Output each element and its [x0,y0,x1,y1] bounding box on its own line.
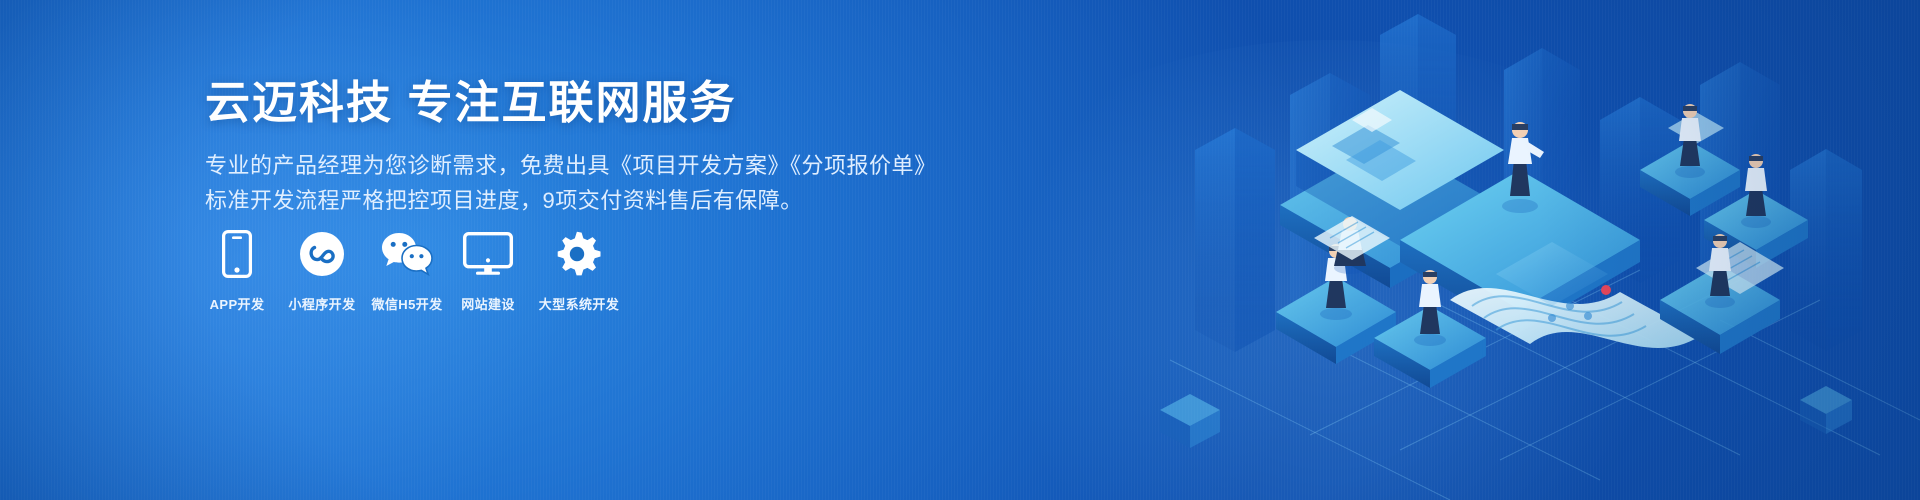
floating-cubes [1160,386,1852,448]
service-label-wechat: 微信H5开发 [371,294,442,313]
service-label-app: APP开发 [210,294,265,313]
gear-icon [556,228,602,280]
isometric-illustration [1100,0,1920,500]
subtitle-block: 专业的产品经理为您诊断需求，免费出具《项目开发方案》《分项报价单》 标准开发流程… [205,148,965,218]
hero-banner: 云迈科技 专注互联网服务 专业的产品经理为您诊断需求，免费出具《项目开发方案》《… [0,0,1920,500]
mini-program-icon [299,228,345,280]
service-label-system: 大型系统开发 [539,294,619,313]
mobile-phone-icon [222,228,252,280]
service-label-miniprogram: 小程序开发 [288,294,355,313]
wechat-icon [381,228,433,280]
subtitle-line-1: 专业的产品经理为您诊断需求，免费出具《项目开发方案》《分项报价单》 [205,148,965,183]
subtitle-line-2: 标准开发流程严格把控项目进度，9项交付资料售后有保障。 [205,183,965,218]
monitor-icon [463,228,513,280]
copy-block: 云迈科技 专注互联网服务 专业的产品经理为您诊断需求，免费出具《项目开发方案》《… [205,74,965,218]
service-label-website: 网站建设 [461,294,515,313]
service-list: APP开发 小程序开发 微信 [205,228,625,313]
page-title: 云迈科技 专注互联网服务 [205,74,965,132]
service-item-website[interactable]: 网站建设 [453,228,523,313]
service-item-app[interactable]: APP开发 [205,228,269,313]
service-item-wechat[interactable]: 微信H5开发 [367,228,447,313]
service-item-system[interactable]: 大型系统开发 [533,228,625,313]
service-item-miniprogram[interactable]: 小程序开发 [283,228,361,313]
